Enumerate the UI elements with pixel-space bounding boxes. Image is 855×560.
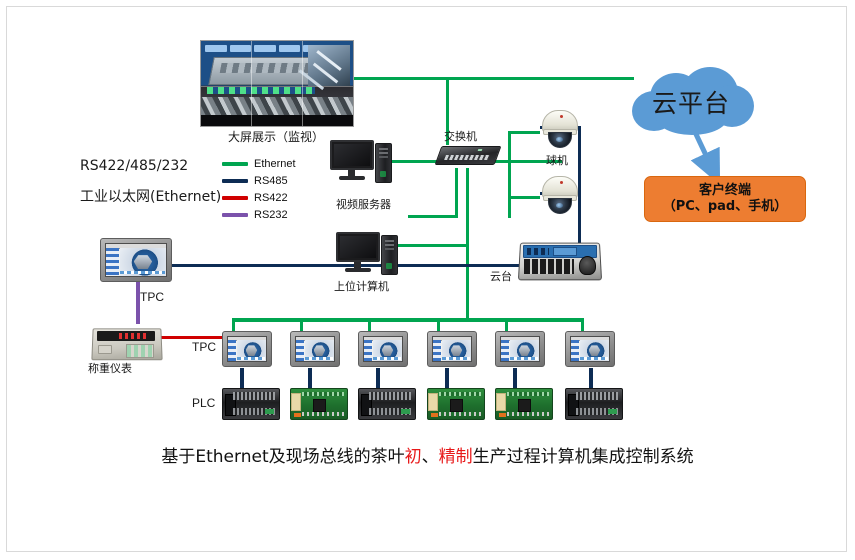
legend-swatch-rs485 — [222, 179, 248, 183]
network-switch-device — [438, 142, 498, 168]
caption-part-1: 基于Ethernet及现场总线的茶叶 — [161, 447, 404, 467]
legend-item-ethernet: Ethernet — [222, 155, 296, 172]
protocol-label-line2: 工业以太网(Ethernet) — [80, 186, 221, 206]
plc-unit-2 — [290, 388, 348, 420]
camera-1-label: 球机 — [546, 152, 568, 168]
line-ethernet-tpc-bus — [232, 318, 584, 322]
plc-unit-5 — [495, 388, 553, 420]
line-ethernet-tpc-drop-6 — [581, 318, 584, 332]
hmi-panel-operator — [100, 238, 172, 282]
line-ethernet-camera1 — [508, 131, 540, 134]
legend: Ethernet RS485 RS422 RS232 — [222, 155, 296, 223]
cloud-platform-label: 云平台 — [626, 65, 756, 139]
plc-unit-1 — [222, 388, 280, 420]
line-ethernet-tpc-drop-1 — [232, 318, 235, 332]
protocol-label-line1: RS422/485/232 — [80, 158, 188, 174]
line-rs485-plc-drop-1 — [240, 368, 244, 390]
dome-camera-2 — [538, 176, 582, 218]
cloud-platform: 云平台 — [626, 65, 756, 139]
line-ethernet-host-right — [398, 244, 468, 247]
plc-unit-6 — [565, 388, 623, 420]
weighing-scale-device — [92, 322, 164, 364]
tpc-row-label: TPC — [192, 340, 216, 354]
legend-label-ethernet: Ethernet — [254, 158, 296, 170]
line-rs485-plc-drop-4 — [445, 368, 449, 390]
caption-part-2: 、 — [422, 447, 439, 467]
video-server-device — [330, 140, 392, 184]
host-computer-label: 上位计算机 — [334, 278, 389, 294]
legend-label-rs485: RS485 — [254, 175, 288, 187]
legend-swatch-ethernet — [222, 162, 248, 166]
ptz-label: 云台 — [490, 268, 512, 284]
caption-part-3: 生产过程计算机集成控制系统 — [473, 447, 694, 467]
legend-item-rs422: RS422 — [222, 189, 296, 206]
video-wall-display — [200, 40, 354, 127]
legend-swatch-rs422 — [222, 196, 248, 200]
line-ethernet-tpc-drop-2 — [300, 318, 303, 332]
legend-label-rs232: RS232 — [254, 209, 288, 221]
line-ethernet-tpc-drop-4 — [437, 318, 440, 332]
client-terminal-line2: （PC、pad、手机） — [663, 199, 787, 215]
line-ethernet-tpc-drop-5 — [505, 318, 508, 332]
tpc-unit-4 — [427, 331, 477, 367]
client-terminal-line1: 客户终端 — [699, 183, 751, 199]
weighing-scale-label: 称重仪表 — [88, 360, 132, 376]
line-ethernet-camera2 — [508, 196, 540, 199]
line-ethernet-top-trunk — [352, 77, 634, 80]
plc-unit-3 — [358, 388, 416, 420]
tpc-unit-6 — [565, 331, 615, 367]
line-ethernet-switch-down-a — [455, 168, 458, 218]
video-server-label: 视频服务器 — [336, 196, 391, 212]
tpc-unit-3 — [358, 331, 408, 367]
line-rs485-plc-drop-2 — [308, 368, 312, 390]
client-terminal-box: 客户终端 （PC、pad、手机） — [644, 176, 806, 222]
switch-label: 交换机 — [444, 128, 477, 144]
host-computer-device — [336, 232, 398, 276]
line-ethernet-tpc-drop-3 — [368, 318, 371, 332]
hmi-panel-label: TPC — [140, 290, 164, 304]
ptz-control-keyboard — [519, 240, 601, 282]
dome-camera-1 — [538, 110, 582, 152]
legend-swatch-rs232 — [222, 213, 248, 217]
line-ethernet-to-host-computer — [408, 215, 458, 218]
tpc-unit-1 — [222, 331, 272, 367]
diagram-canvas: 大屏展示（监视） RS422/485/232 工业以太网(Ethernet) E… — [0, 0, 855, 560]
tpc-unit-2 — [290, 331, 340, 367]
line-rs485-plc-drop-6 — [589, 368, 593, 390]
line-ethernet-camera-riser — [508, 131, 511, 218]
line-rs485-plc-drop-3 — [376, 368, 380, 390]
caption-red-1: 初 — [405, 447, 422, 467]
legend-label-rs422: RS422 — [254, 192, 288, 204]
diagram-caption: 基于Ethernet及现场总线的茶叶初、精制生产过程计算机集成控制系统 — [0, 442, 855, 467]
video-wall-label: 大屏展示（监视） — [228, 128, 324, 145]
tpc-unit-5 — [495, 331, 545, 367]
legend-item-rs485: RS485 — [222, 172, 296, 189]
plc-row-label: PLC — [192, 396, 215, 410]
plc-unit-4 — [427, 388, 485, 420]
line-rs485-plc-drop-5 — [513, 368, 517, 390]
legend-item-rs232: RS232 — [222, 206, 296, 223]
caption-red-2: 精制 — [439, 447, 473, 467]
